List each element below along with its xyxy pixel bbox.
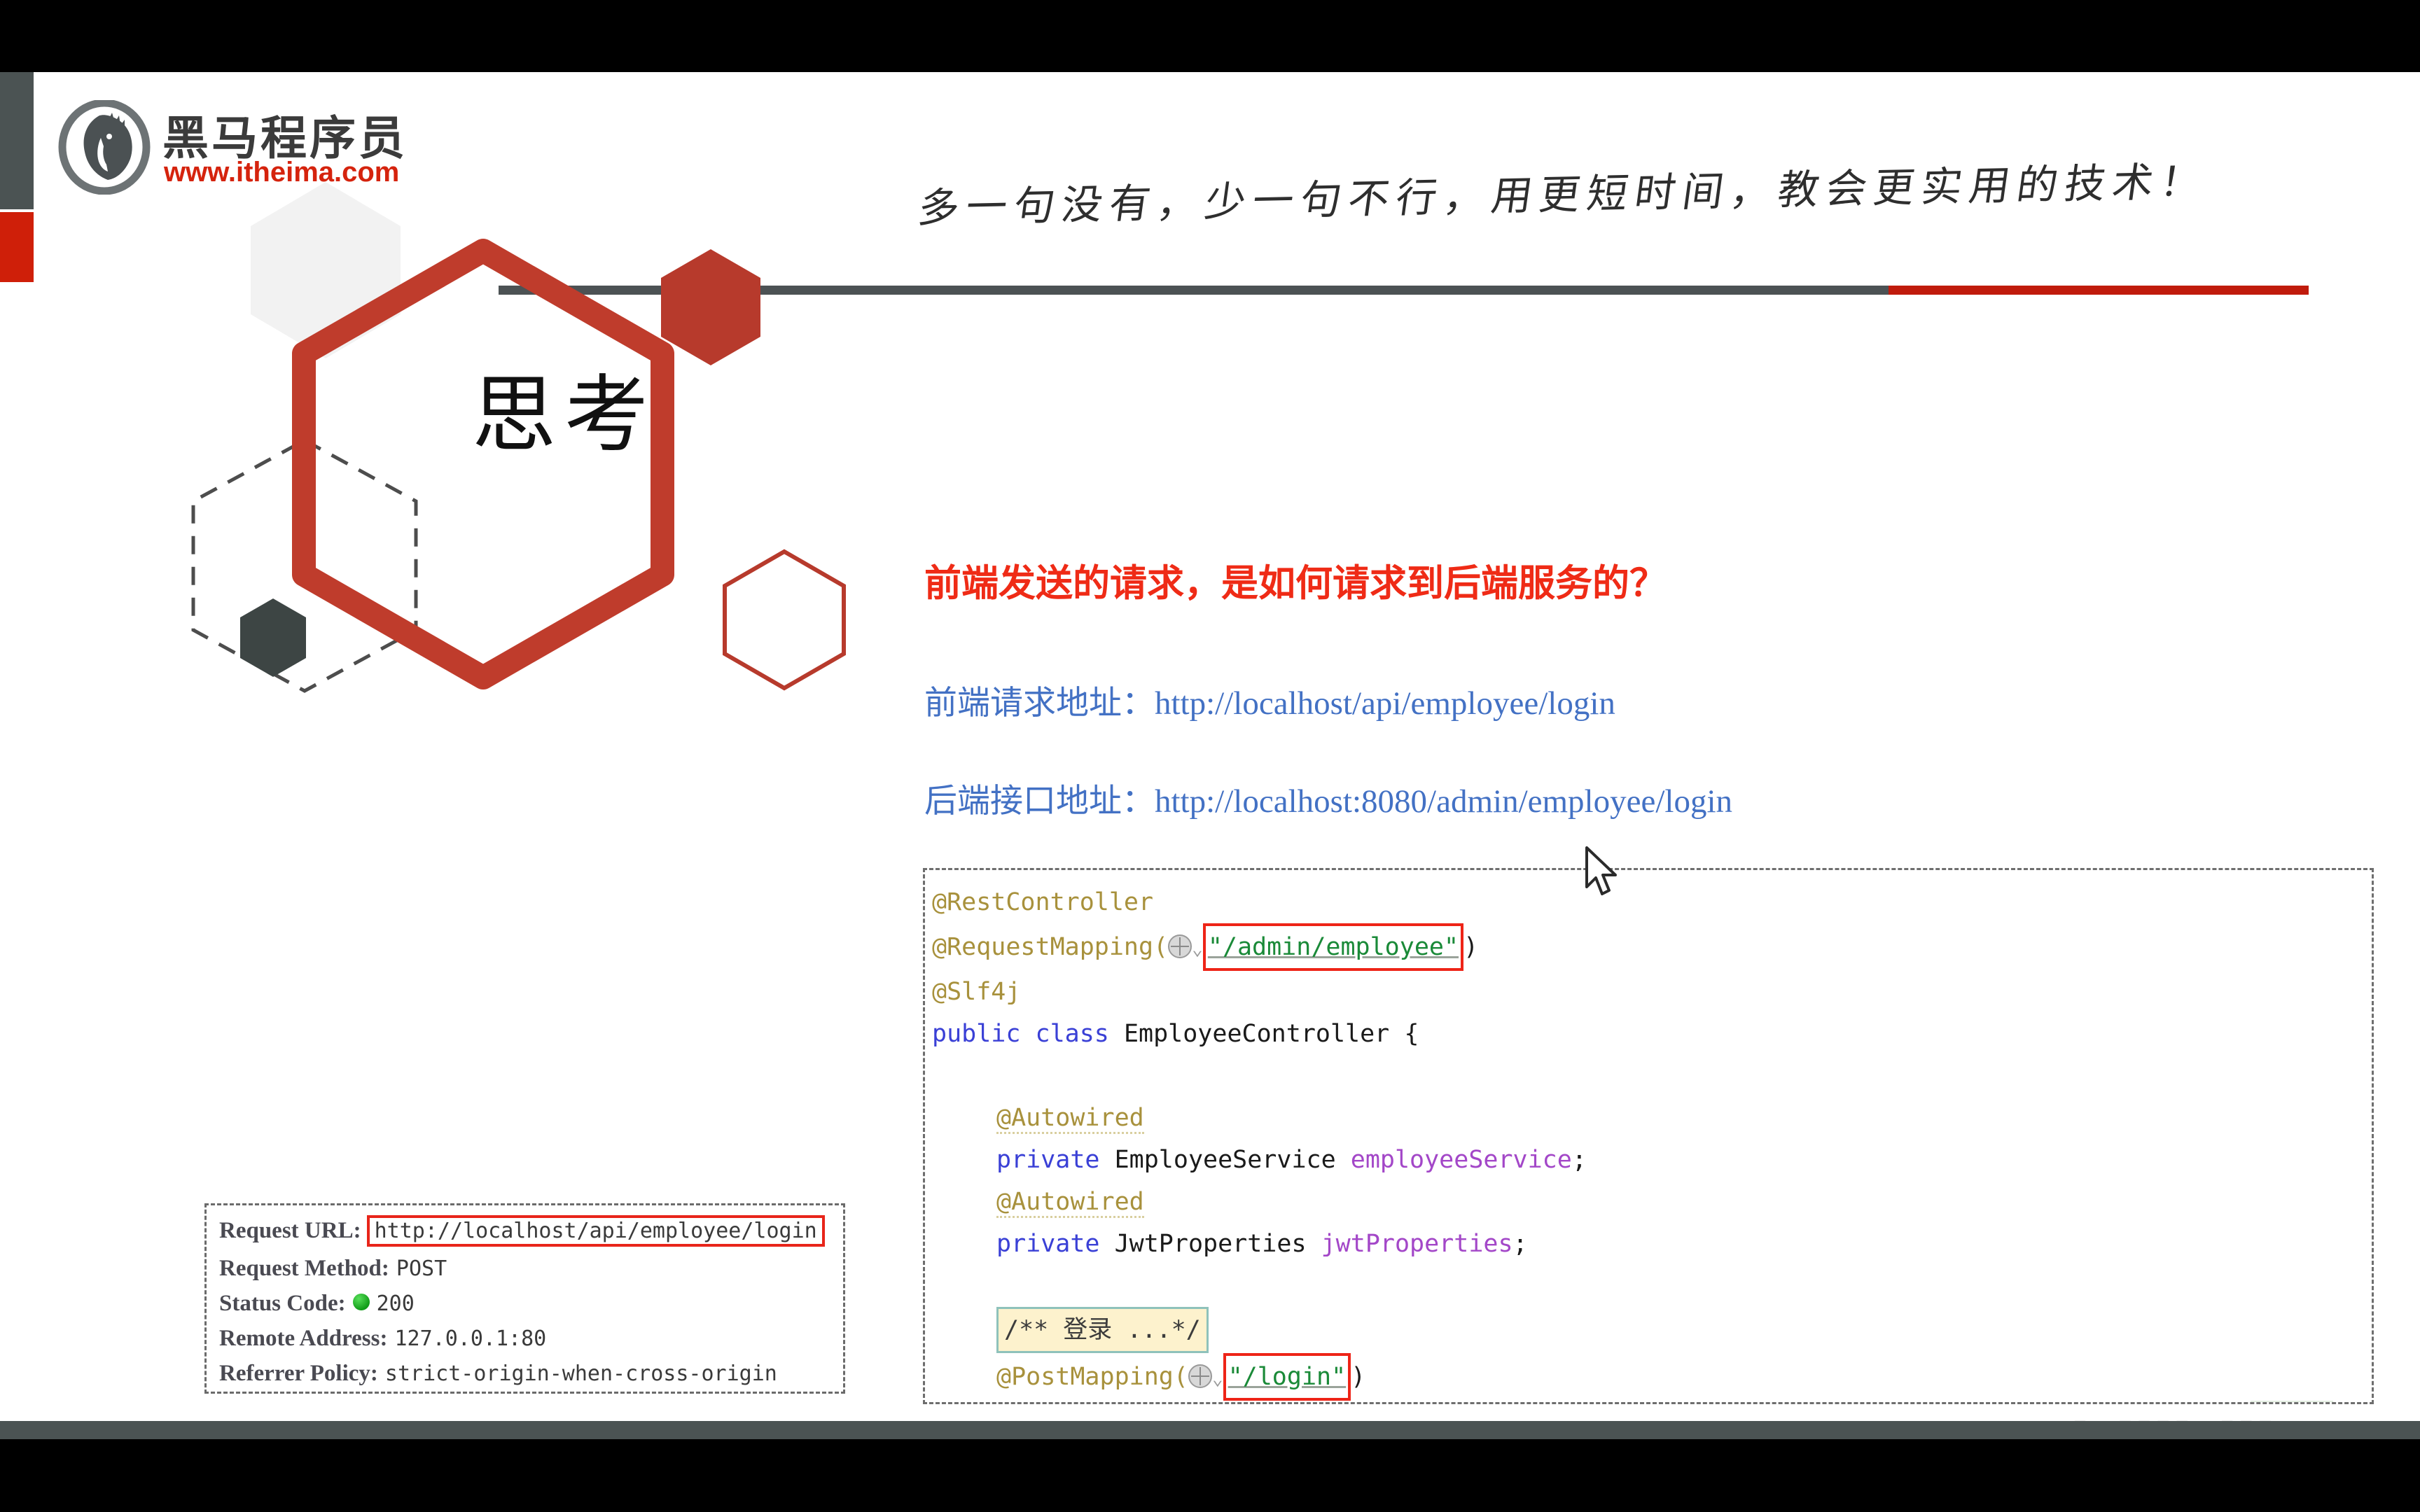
mouse-cursor-icon [1584,846,1623,899]
devtools-value-request-method: POST [396,1256,447,1281]
string-admin-employee: "/admin/employee" [1208,933,1459,961]
hex-label-text: 思考 [389,346,739,468]
left-edge-grey-bar [0,72,34,209]
devtools-headers-panel: Request URL: http://localhost/api/employ… [204,1203,845,1394]
request-url-highlight-box: http://localhost/api/employee/login [367,1215,825,1247]
annotation-autowired-2: @Autowired [996,1188,1144,1218]
devtools-key-request-method: Request Method: [219,1256,389,1282]
devtools-row-request-url: Request URL: http://localhost/api/employ… [219,1215,832,1247]
code-line-blank-2 [932,1265,2372,1307]
code-line-autowired-1: @Autowired [932,1097,2372,1139]
bilibili-watermark: bilibili [2069,1406,2274,1421]
annotation-slf4j: @Slf4j [932,978,1020,1006]
frontend-address-url: http://localhost/api/employee/login [1155,685,1615,722]
backend-api-address-line: 后端接口地址：http://localhost:8080/admin/emplo… [924,773,1732,822]
status-green-dot-icon [353,1294,370,1310]
devtools-value-referrer-policy: strict-origin-when-cross-origin [385,1361,777,1386]
code-line-folded-comment: /** 登录 ...*/ [932,1307,2372,1353]
slide-canvas: 黑马程序员 www.itheima.com 多一句没有，少一句不行，用更短时间，… [0,72,2420,1421]
code-line-rest-controller: @RestController [932,881,2372,923]
devtools-row-referrer-policy: Referrer Policy: strict-origin-when-cros… [219,1361,832,1387]
folded-method-body[interactable]: {...} [2251,1401,2332,1404]
header-rule-red [1889,286,2309,295]
devtools-value-remote-address: 127.0.0.1:80 [394,1326,546,1351]
code-line-field-jwt-properties: private JwtProperties jwtProperties; [932,1223,2372,1265]
folded-javadoc-comment[interactable]: /** 登录 ...*/ [996,1307,1209,1353]
screen: 黑马程序员 www.itheima.com 多一句没有，少一句不行，用更短时间，… [0,0,2420,1512]
field-jwt-properties: jwtProperties [1321,1230,1513,1258]
frontend-address-label: 前端请求地址： [924,684,1155,722]
devtools-key-request-url: Request URL: [219,1218,361,1244]
horse-head-logo-icon [57,100,152,195]
keyword-private-2: private [996,1230,1100,1258]
admin-employee-highlight-box: "/admin/employee" [1203,923,1463,971]
annotation-request-mapping: @RequestMapping( [932,933,1168,961]
type-jwt-properties: JwtProperties [1115,1230,1307,1258]
hex-red-outline [721,548,847,692]
field-employee-service: employeeService [1351,1146,1572,1174]
string-login-path: "/login" [1228,1363,1347,1391]
code-line-field-employee-service: private EmployeeService employeeService; [932,1139,2372,1181]
devtools-row-request-method: Request Method: POST [219,1256,832,1282]
keyword-public: public [932,1020,1020,1048]
request-mapping-close-paren: ) [1463,933,1478,961]
globe-gutter-icon[interactable] [1168,934,1192,958]
semicolon-1: ; [1572,1146,1587,1174]
chevron-down-icon-2[interactable]: ⌄ [1212,1368,1223,1389]
annotation-autowired-1: @Autowired [996,1104,1144,1134]
devtools-value-status-code: 200 [377,1291,415,1316]
login-path-highlight-box: "/login" [1223,1353,1351,1401]
post-mapping-close-paren: ) [1351,1363,1365,1391]
backend-address-url: http://localhost:8080/admin/employee/log… [1155,783,1732,820]
code-line-request-mapping: @RequestMapping(⌄"/admin/employee") [932,923,2372,971]
code-line-blank-1 [932,1055,2372,1097]
code-line-class-decl: public class EmployeeController { [932,1013,2372,1055]
type-employee-service: EmployeeService [1115,1146,1336,1174]
annotation-post-mapping: @PostMapping( [996,1363,1188,1391]
code-line-slf4j: @Slf4j [932,971,2372,1013]
header-tagline: 多一句没有，少一句不行，用更短时间，教会更实用的技术！ [822,146,2305,236]
globe-gutter-icon-2[interactable] [1188,1364,1212,1388]
frontend-request-address-line: 前端请求地址：http://localhost/api/employee/log… [924,675,1615,724]
code-line-post-mapping: @PostMapping(⌄"/login") [932,1353,2372,1401]
question-title: 前端发送的请求，是如何请求到后端服务的？ [924,554,1667,607]
code-line-method-signature: public Result<EmployeeLoginVO> login(@Re… [932,1401,2372,1404]
code-snippet-panel: @RestController @RequestMapping(⌄"/admin… [923,868,2374,1404]
devtools-key-remote-address: Remote Address: [219,1326,387,1352]
devtools-key-status-code: Status Code: [219,1291,346,1317]
code-line-autowired-2: @Autowired [932,1181,2372,1223]
left-edge-red-bar [0,212,34,282]
class-name-employee-controller: EmployeeController { [1124,1020,1419,1048]
annotation-rest-controller: @RestController [932,888,1153,916]
devtools-row-remote-address: Remote Address: 127.0.0.1:80 [219,1326,832,1352]
devtools-key-referrer-policy: Referrer Policy: [219,1361,378,1387]
chevron-down-icon[interactable]: ⌄ [1192,939,1203,960]
keyword-class: class [1036,1020,1109,1048]
bottom-grey-strip [0,1421,2420,1439]
semicolon-2: ; [1513,1230,1528,1258]
backend-address-label: 后端接口地址： [924,782,1155,820]
devtools-value-request-url: http://localhost/api/employee/login [375,1219,817,1243]
keyword-private-1: private [996,1146,1100,1174]
devtools-row-status-code: Status Code: 200 [219,1291,832,1317]
